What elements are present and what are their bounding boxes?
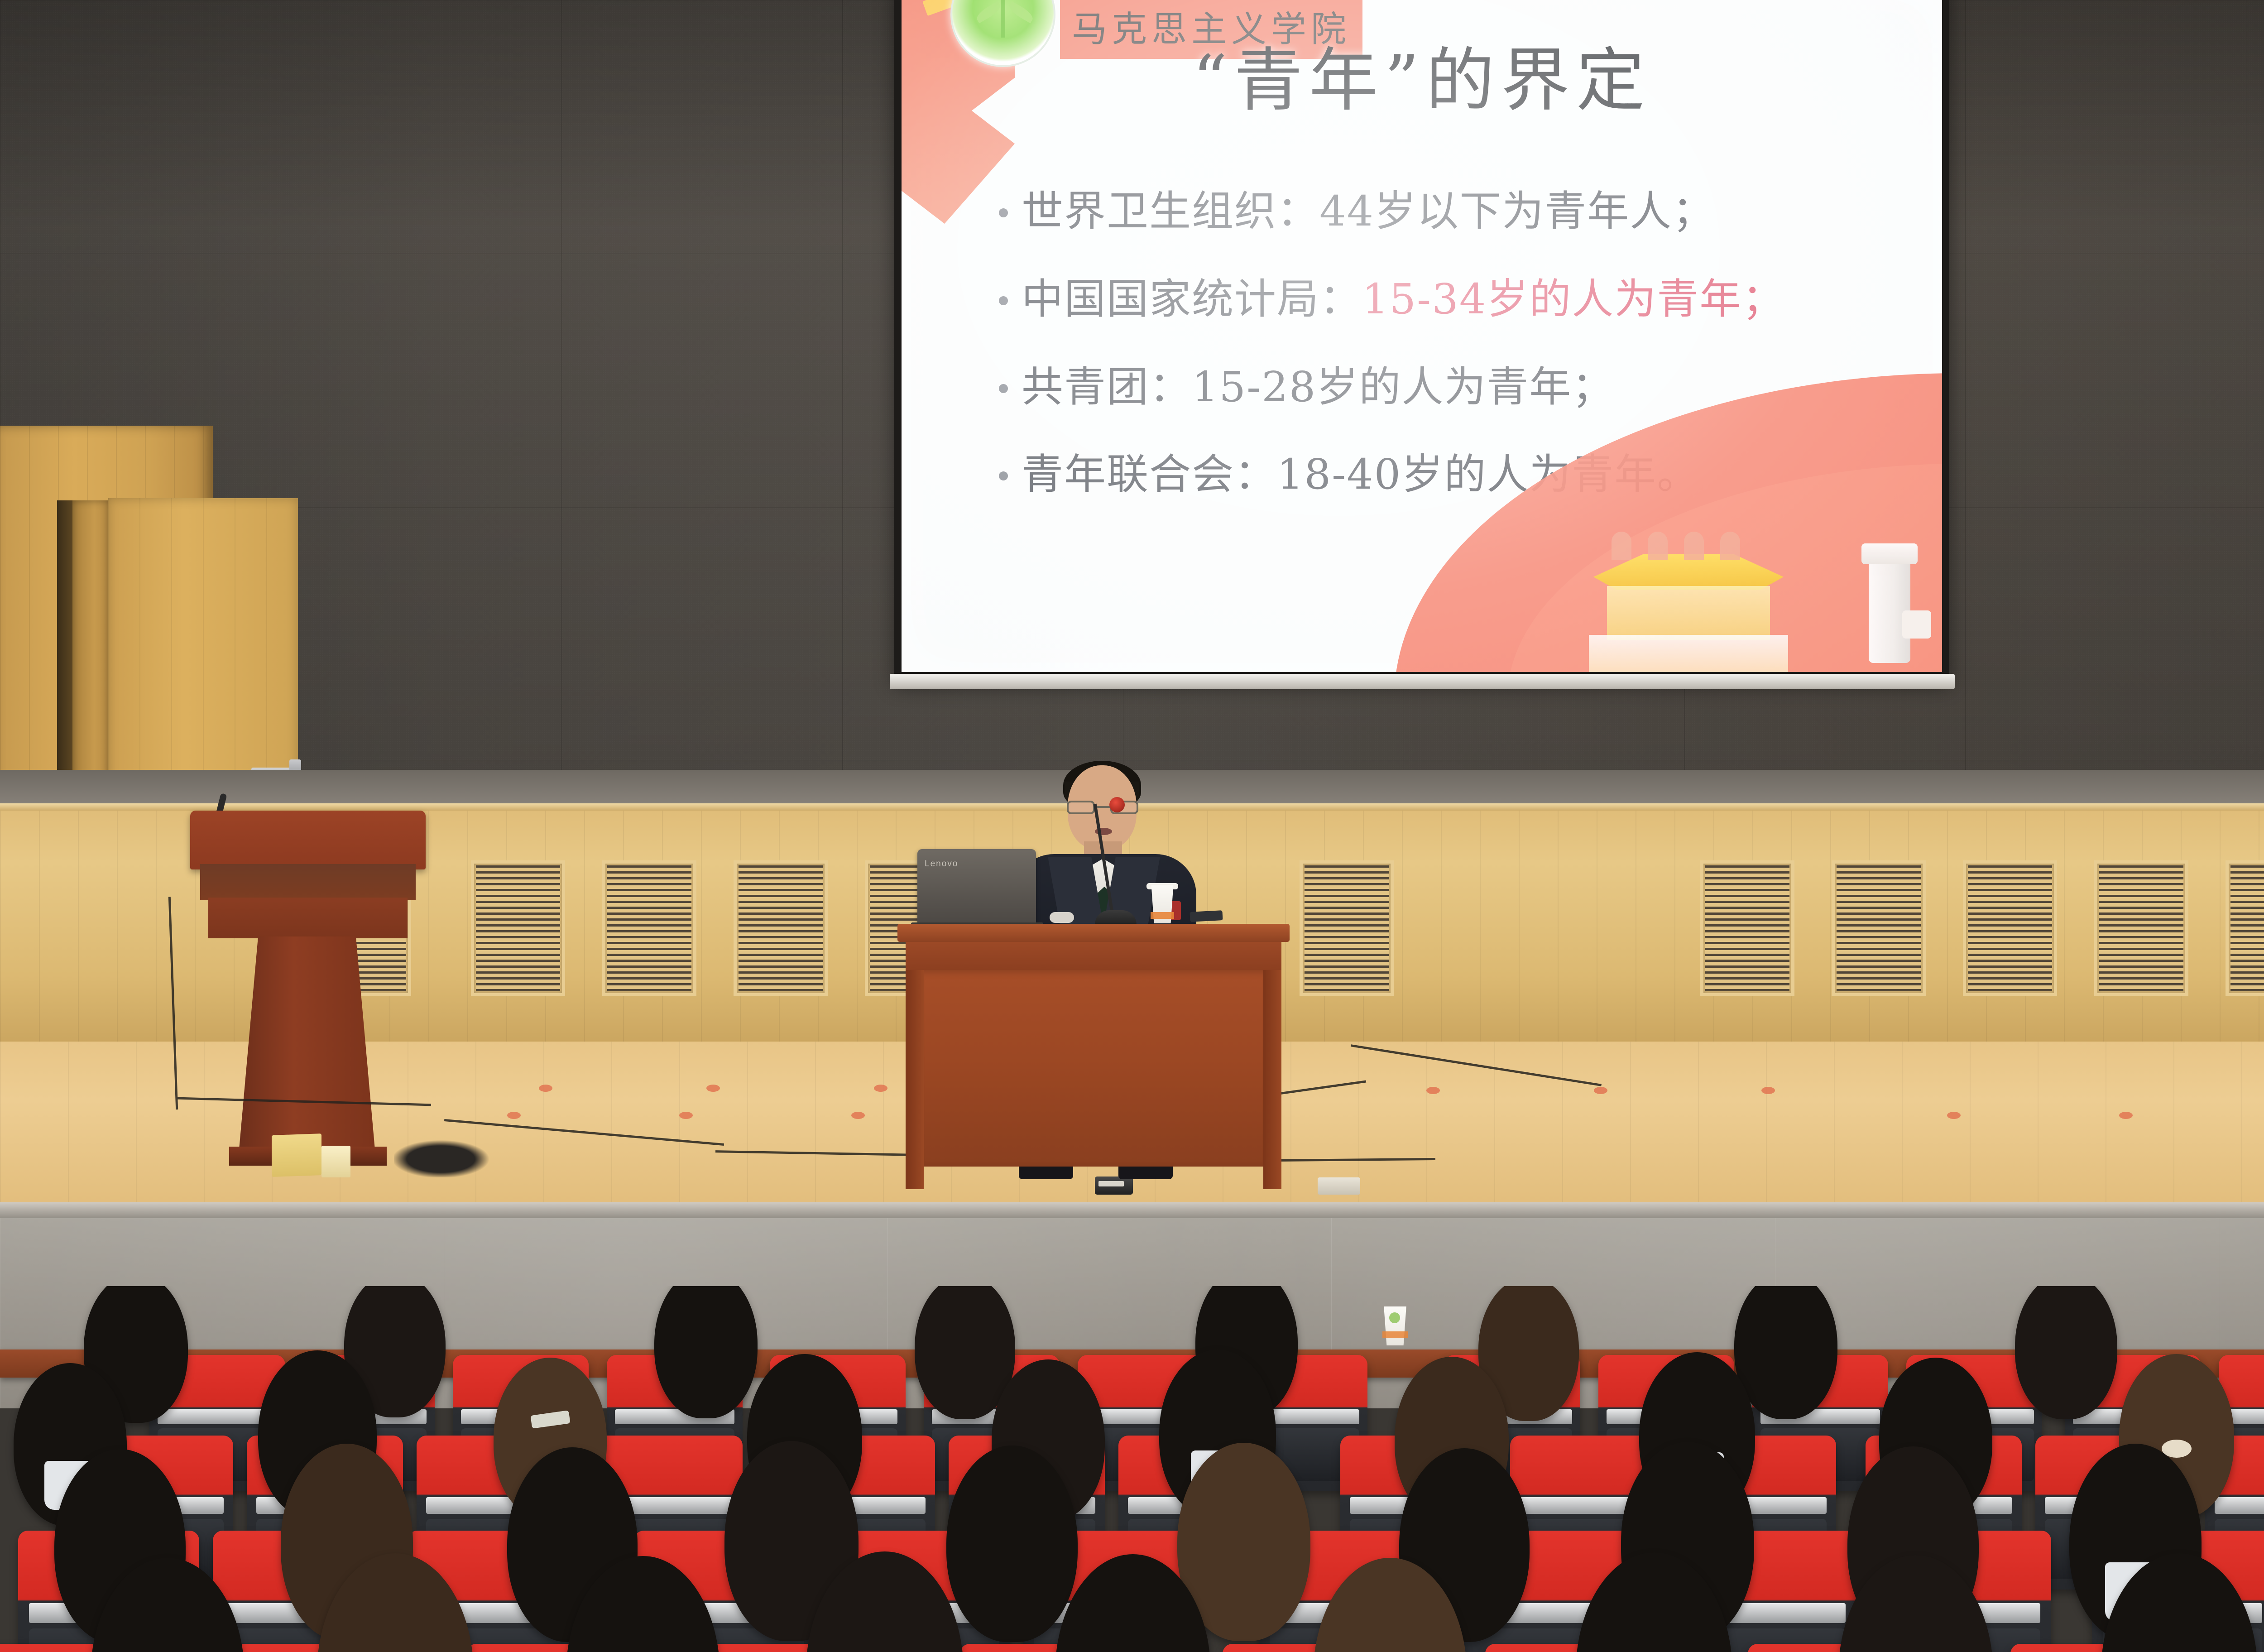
presenter-desk [906,924,1281,1196]
audience-head [946,1445,1078,1642]
vent-grille [471,860,565,996]
bullet-dot-icon [999,296,1008,305]
floor-marker [1947,1112,1961,1119]
laptop-brand-label: Lenovo [925,859,958,869]
mouse[interactable] [1050,912,1074,923]
screen-roller-bar [890,674,1955,689]
tiananmen-gate-icon [1575,523,1829,672]
cable-bundle [394,1137,498,1177]
vent-grille [734,860,828,996]
floor-marker [679,1112,693,1119]
slide-bullet: 世界卫生组织：44岁以下为青年人； [999,187,1888,235]
bullet-dot-icon [999,208,1008,217]
cup-band [1151,912,1174,919]
floor-box-small [321,1146,350,1177]
floor-marker [539,1085,552,1092]
phone[interactable] [1190,910,1223,922]
slide-bullet: 中国国家统计局：15-34岁的人为青年； [999,275,1888,323]
stage-edge [0,1202,2264,1220]
vent-grille [2094,860,2188,996]
vent-grille [1300,860,1394,996]
floor-marker [507,1112,521,1119]
floor-box [272,1133,321,1177]
slide-title: “青年”的界定 [902,43,1942,118]
floor-marker [2119,1112,2133,1119]
vent-grille [602,860,696,996]
floor-marker [706,1085,720,1092]
floor-marker [874,1085,887,1092]
floor-marker [1426,1087,1440,1094]
microphone-icon [1109,797,1125,812]
vent-grille [2226,860,2264,996]
glasses-icon [1067,801,1138,814]
bullet-dot-icon [999,471,1008,480]
vent-grille [1700,860,1794,996]
column-decoration [1869,550,1910,663]
floor-marker [851,1112,865,1119]
audience-head [1734,1286,1837,1419]
bullet-dot-icon [999,384,1008,393]
floor-speaker-box [1318,1177,1360,1195]
laptop[interactable]: Lenovo [917,849,1036,926]
presentation-slide: 马克思主义学院 “青年”的界定 世界卫生组织：44岁以下为青年人； 中国国家统计… [902,0,1942,672]
audience-head [654,1286,758,1418]
projection-screen: 马克思主义学院 “青年”的界定 世界卫生组织：44岁以下为青年人； 中国国家统计… [894,0,1949,679]
wooden-lectern [190,811,426,1182]
audience-head [2015,1286,2117,1419]
hair-clip-icon [530,1410,570,1428]
vent-grille [1963,860,2057,996]
lecture-hall-scene: 马克思主义学院 “青年”的界定 世界卫生组织：44岁以下为青年人； 中国国家统计… [0,0,2264,1652]
floor-marker [1594,1087,1607,1094]
audience-area [0,1286,2264,1652]
floor-marker [1761,1087,1775,1094]
vent-grille [1832,860,1926,996]
